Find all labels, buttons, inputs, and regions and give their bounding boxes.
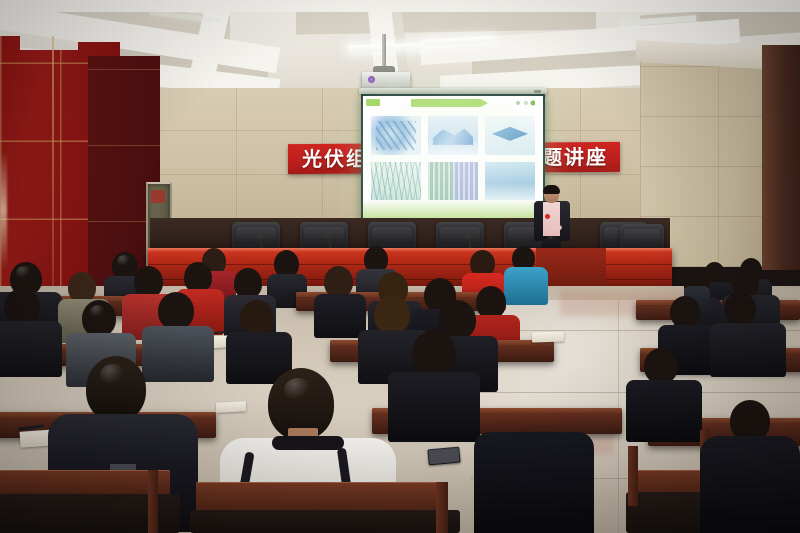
phone-screen [428, 448, 459, 465]
cabinet-item-1 [151, 190, 165, 203]
slide-image-silicon-wafer-stack [485, 116, 535, 155]
presenter [530, 186, 576, 252]
phone-on-desk[interactable] [427, 447, 460, 466]
person-torso [700, 436, 800, 533]
left-wall-gold-seam [52, 36, 54, 298]
person-torso [504, 267, 548, 305]
person-hair-sheen [16, 266, 32, 279]
jacket-collar [272, 436, 344, 450]
person-head [670, 296, 700, 328]
floor-seam-2 [450, 392, 800, 393]
slide-image-grid [371, 116, 535, 200]
person-hair-sheen [100, 364, 126, 386]
person-torso [314, 294, 366, 338]
left-wall-specular-highlight [0, 150, 7, 270]
seat-leg-2 [436, 482, 448, 533]
seat-leg-3 [628, 446, 638, 506]
ceiling-beam-front-edge [0, 0, 800, 12]
slide-image-solar-farm-rows [371, 162, 421, 201]
ceiling-projector [362, 72, 410, 89]
seat-cushion-near-center[interactable] [190, 510, 460, 533]
person-head [412, 330, 456, 378]
presenter-badge [545, 214, 550, 219]
presenter-shirt [543, 202, 560, 236]
person-hair-sheen [90, 305, 106, 318]
seat-leg-1 [148, 470, 158, 533]
slide-accent-tab [366, 99, 380, 106]
paper-row-c-2 [532, 331, 564, 342]
projection-screen [363, 96, 543, 222]
slide-image-solar-cell-closeup [371, 116, 421, 155]
person-torso [710, 323, 786, 377]
person-head [374, 296, 410, 334]
projector-mount-pole [382, 34, 386, 70]
slide-title-arrow [411, 99, 481, 107]
person-hair-sheen [117, 255, 131, 267]
person-torso [142, 326, 214, 382]
slide-image-mountain-landscape [428, 116, 478, 155]
person-head [644, 348, 678, 384]
presenter-hair [543, 185, 560, 194]
projector-lens-icon [368, 76, 375, 83]
slide-image-panel-array-fan [485, 162, 535, 201]
slide-header-bar [363, 96, 543, 112]
person-torso [0, 321, 62, 377]
paper-row-d-2 [216, 401, 246, 413]
person-torso [388, 372, 480, 442]
person-torso [474, 432, 594, 533]
person-head [724, 292, 756, 326]
slide-image-module-grid-panels [428, 162, 478, 201]
slide-logo-icon [515, 100, 535, 106]
right-wall-dark-column [762, 45, 800, 270]
person-head [158, 292, 194, 330]
person-head [240, 300, 274, 336]
person-hair-sheen [284, 378, 312, 402]
person-torso [626, 380, 702, 442]
lecture-hall-photo: 光伏组件 专题讲座 [0, 0, 800, 533]
